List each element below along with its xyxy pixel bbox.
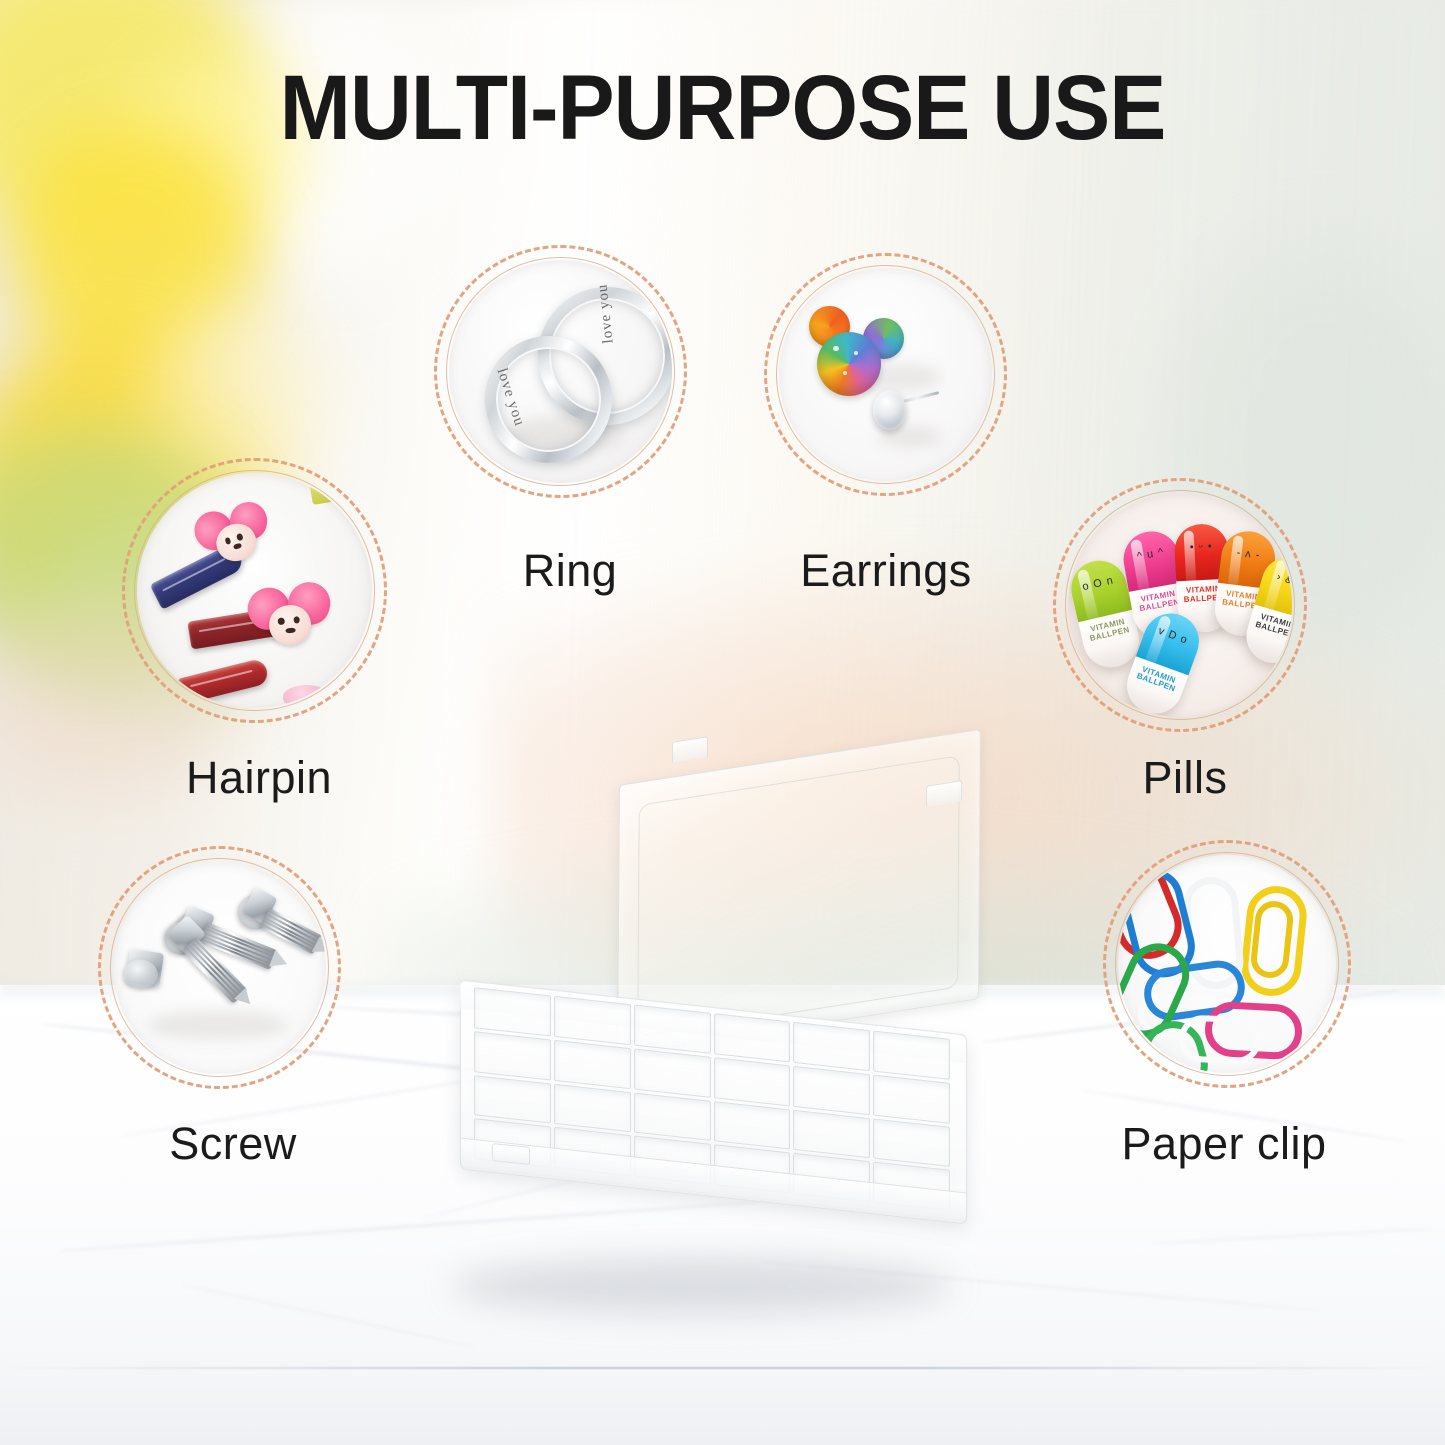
extra-pink-topper [283,685,330,709]
compartment-cell[interactable] [634,1004,711,1053]
hex-screw [117,942,199,1024]
callout-label-ring: Ring [523,545,618,597]
compartment-cell[interactable] [554,1040,631,1089]
callout-label-pills: Pills [1142,752,1227,804]
compartment-cell[interactable] [714,1057,791,1106]
earrings-photo [779,268,992,481]
compartment-cell[interactable] [873,1074,950,1123]
callout-label-paperclip: Paper clip [1121,1118,1326,1170]
callout-screw[interactable] [98,846,341,1089]
screw-photo [113,861,326,1074]
front-latch[interactable] [492,1143,530,1165]
compartment-cell[interactable] [634,1048,711,1097]
white-paper-clip [1178,1015,1261,1065]
callout-label-hairpin: Hairpin [186,752,332,804]
minnie-topper-polkadot [252,588,328,660]
callout-ring[interactable]: love you love you [434,245,687,498]
page-title: MULTI-PURPOSE USE [51,62,1395,154]
compartment-cell[interactable] [873,1031,950,1080]
lid-latch-tab-left[interactable] [672,736,708,763]
callout-label-screw: Screw [169,1118,297,1170]
infographic-scene: MULTI-PURPOSE USE love you love you Ring [0,0,1445,1445]
compartment-cell[interactable] [793,1066,870,1115]
callout-earrings[interactable] [764,253,1007,496]
compartment-cell[interactable] [714,1101,791,1150]
callout-hairpin[interactable] [122,458,387,723]
compartment-cell[interactable] [474,1031,551,1080]
paperclip-photo [1118,855,1336,1073]
red-snap-clip [177,658,270,705]
callout-label-earrings: Earrings [800,545,972,597]
crystal-stud-earring [873,387,933,434]
compartment-cell[interactable] [474,1075,551,1124]
organizer-box[interactable] [440,745,985,1310]
pills-photo: o O n VITAMIN BALLPEN ^ u ^ VITAMIN BALL… [1068,493,1292,717]
hairpin-photo [137,473,372,708]
compartment-cell[interactable] [793,1109,870,1158]
compartment-cell[interactable] [793,1022,870,1071]
callout-paperclip[interactable] [1103,840,1351,1088]
compartment-cell[interactable] [474,987,551,1036]
box-lid-inner-panel [637,755,960,1037]
compartment-cell[interactable] [873,1118,950,1167]
compartment-cell[interactable] [554,996,631,1045]
compartment-cell[interactable] [554,1083,631,1132]
ring-photo: love you love you [449,260,672,483]
compartment-cell[interactable] [714,1013,791,1062]
callout-pills[interactable]: o O n VITAMIN BALLPEN ^ u ^ VITAMIN BALL… [1053,478,1307,732]
compartment-cell[interactable] [634,1092,711,1141]
